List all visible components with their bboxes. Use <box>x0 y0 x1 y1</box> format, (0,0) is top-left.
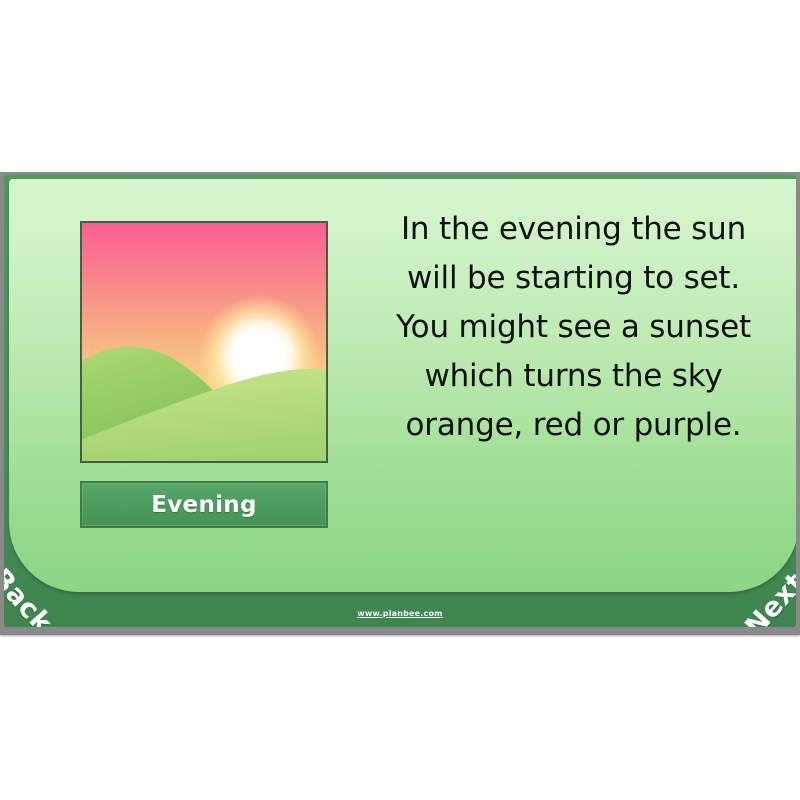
slide-panel: Evening In the evening the sun will be s… <box>9 179 796 592</box>
slide: Evening In the evening the sun will be s… <box>0 172 800 635</box>
slide-content: Evening In the evening the sun will be s… <box>9 179 796 592</box>
footer-band: Evening In the evening the sun will be s… <box>4 175 796 627</box>
illustration-column: Evening <box>9 179 364 528</box>
site-url-link[interactable]: www.planbee.com <box>4 609 796 618</box>
sunset-scene-icon <box>82 223 326 461</box>
caption-button-evening[interactable]: Evening <box>80 481 328 528</box>
slide-body-text: In the evening the sun will be starting … <box>372 205 775 450</box>
sunset-illustration <box>80 221 328 463</box>
text-column: In the evening the sun will be starting … <box>364 179 796 450</box>
